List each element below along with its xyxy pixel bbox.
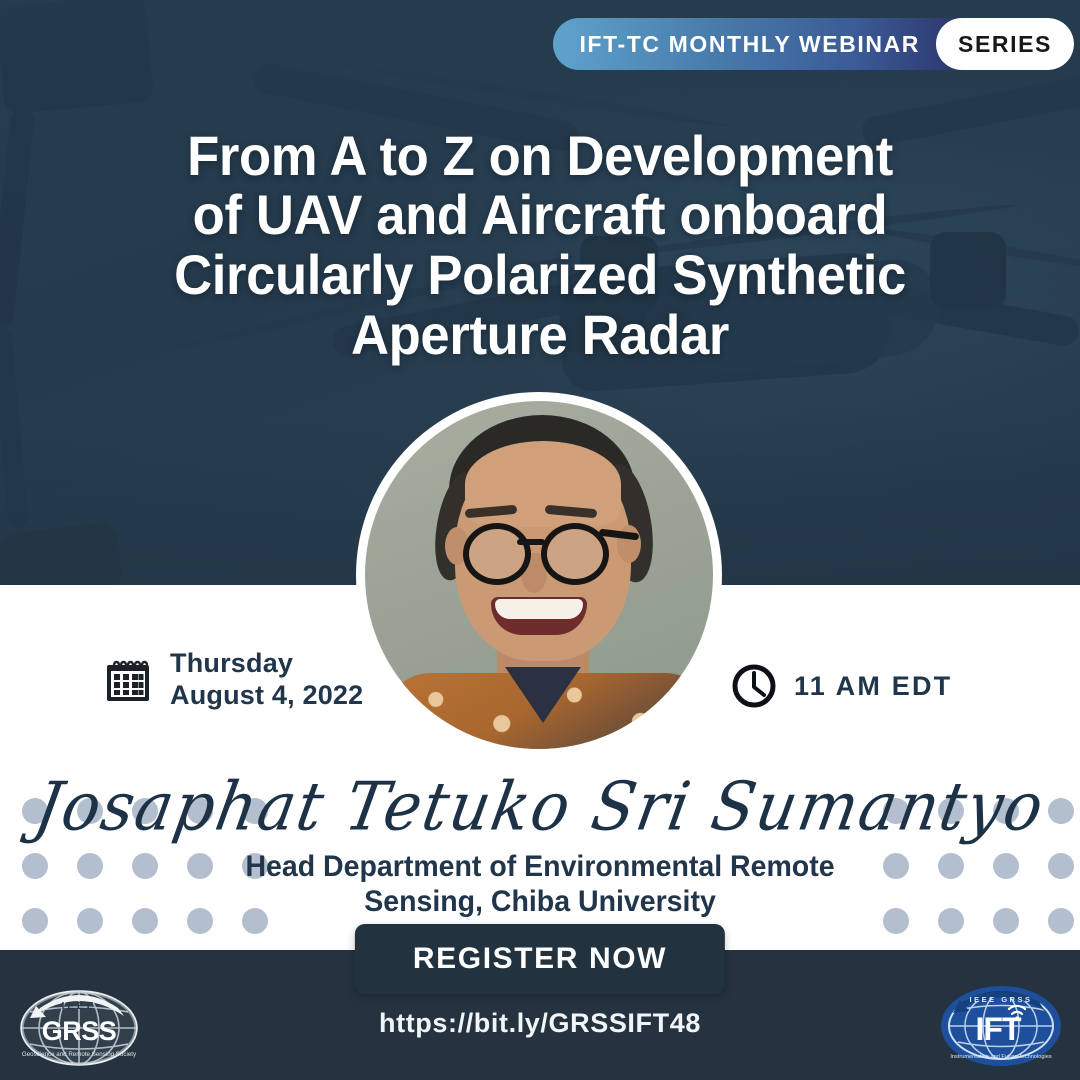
svg-text:IEEE: IEEE [62,1001,97,1012]
ieee-ift-logo: IEEE GRSS IFT Instrumentation and Future… [936,980,1066,1072]
speaker-name-signature: Josaphat Tetuko Sri Sumantyo [0,774,1080,841]
title-line: Circularly Polarized Synthetic [98,245,982,305]
registration-url[interactable]: https://bit.ly/GRSSIFT48 [0,1008,1080,1039]
event-date-block: Thursday August 4, 2022 [102,648,363,712]
speaker-photo-inner [365,401,713,749]
title-line: of UAV and Aircraft onboard [98,185,982,245]
title-line: From A to Z on Development [98,126,982,186]
svg-text:IFT: IFT [976,1011,1022,1047]
event-time-text: 11 AM EDT [794,671,952,702]
event-day: Thursday [170,648,293,678]
badge-series-pill: SERIES [936,18,1074,70]
svg-text:Instrumentation and Future Tec: Instrumentation and Future Technologies [950,1054,1051,1060]
svg-text:GRSS: GRSS [42,1016,117,1046]
portrait-smile [491,597,587,635]
calendar-icon [102,654,154,706]
badge-main-label: IFT-TC MONTHLY WEBINAR [553,18,936,70]
glasses-icon [463,523,531,585]
speaker-role: Head Department of Environmental Remote … [27,850,1053,920]
speaker-photo [356,392,722,758]
event-date-text: Thursday August 4, 2022 [170,648,363,712]
webinar-poster: IFT-TC MONTHLY WEBINAR SERIES From A to … [0,0,1080,1080]
event-date: August 4, 2022 [170,680,363,710]
glasses-bridge [517,539,545,545]
portrait-teeth [495,599,583,619]
clock-icon [730,662,778,710]
webinar-title: From A to Z on Development of UAV and Ai… [32,126,1047,366]
ieee-grss-logo: IEEE GRSS Geoscience and Remote Sensing … [16,984,142,1068]
register-now-button[interactable]: REGISTER NOW [355,924,725,994]
svg-text:Geoscience and Remote Sensing: Geoscience and Remote Sensing Society [22,1051,137,1058]
event-time-block: 11 AM EDT [730,662,952,710]
title-line: Aperture Radar [98,305,982,365]
svg-text:IEEE GRSS: IEEE GRSS [970,995,1033,1004]
speaker-role-line: Head Department of Environmental Remote [27,850,1053,885]
speaker-role-line: Sensing, Chiba University [27,885,1053,920]
webinar-series-badge: IFT-TC MONTHLY WEBINAR SERIES [553,18,1074,70]
